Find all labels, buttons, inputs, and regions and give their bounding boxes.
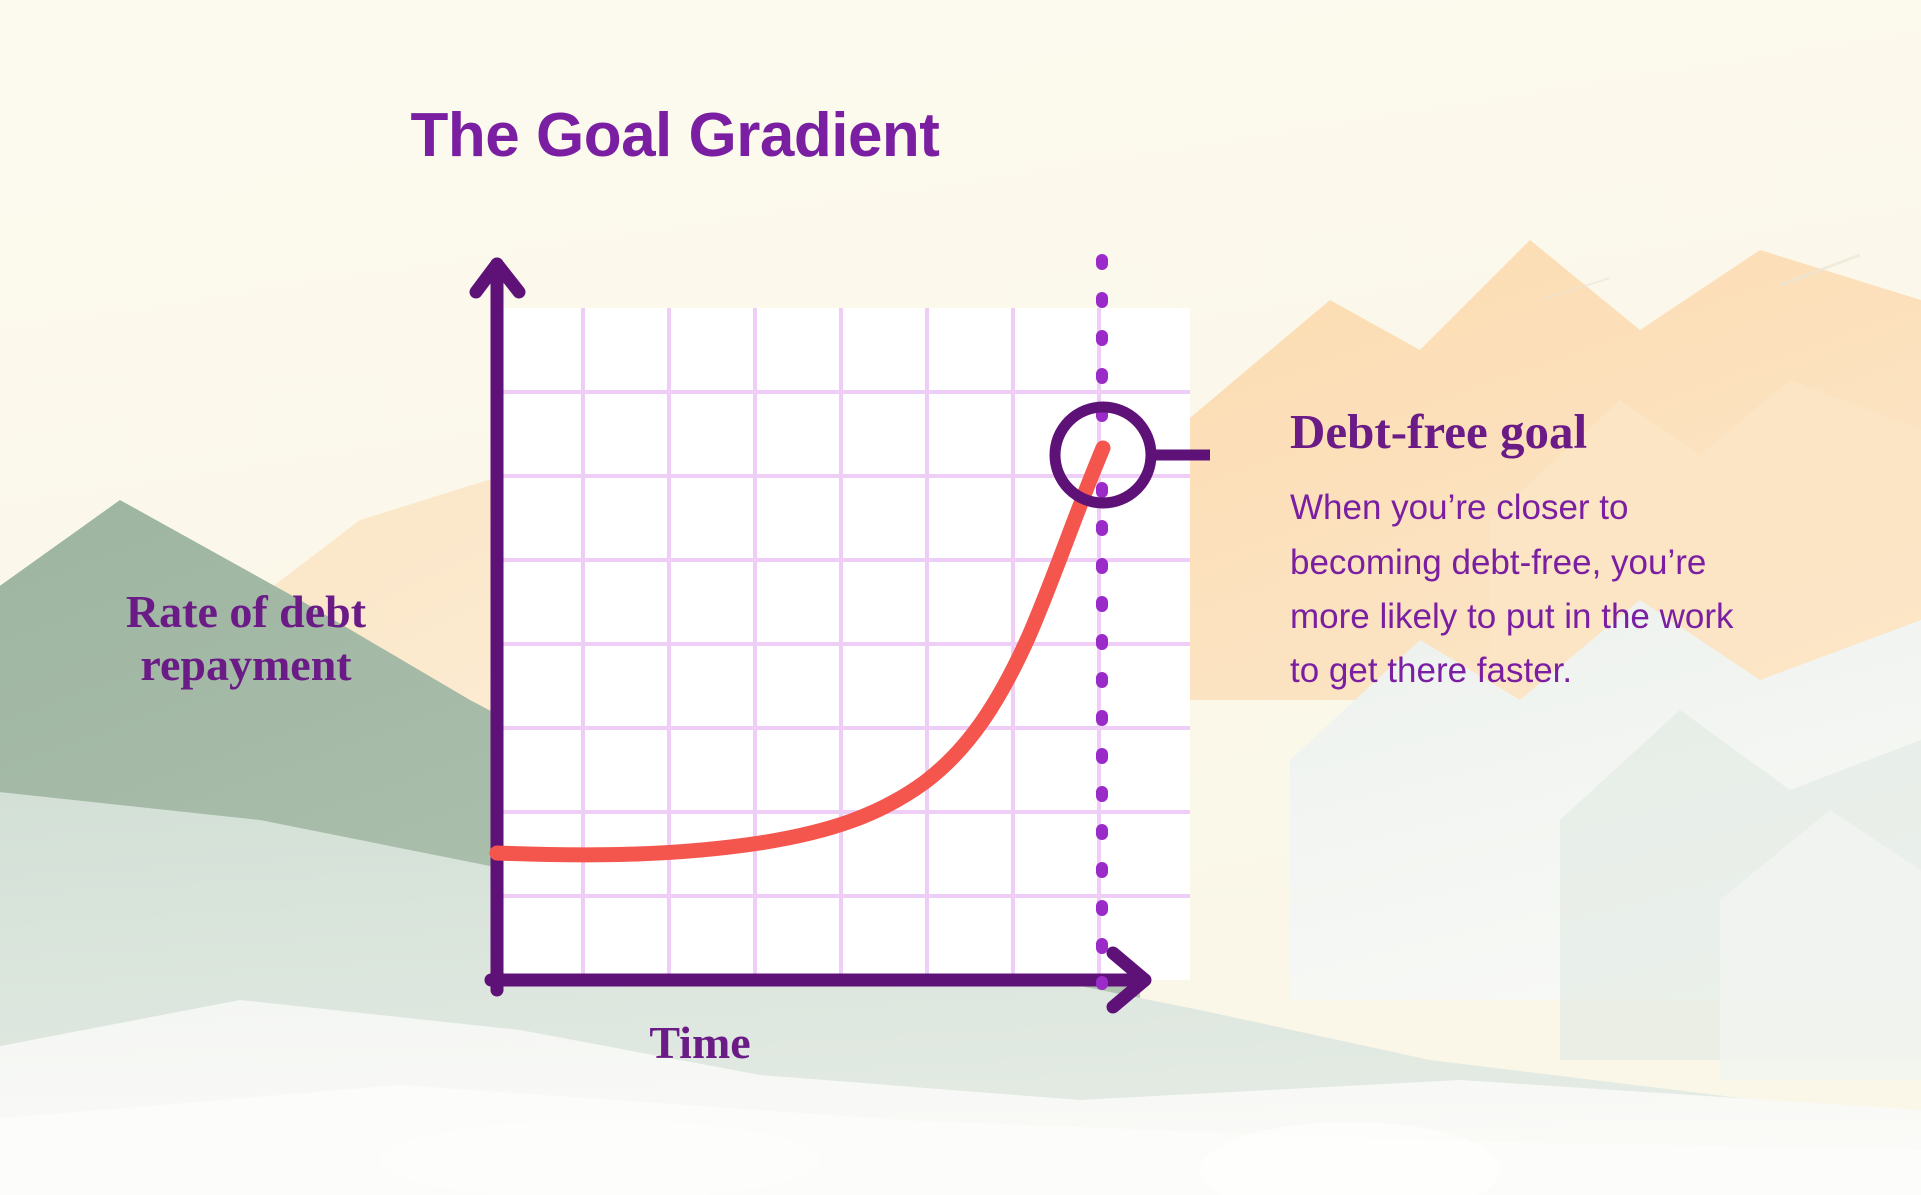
infographic-canvas: The Goal Gradient [0,0,1921,1195]
callout-body-text: When you’re closer to becoming debt-free… [1290,481,1760,698]
chart-svg [380,230,1210,1020]
x-axis-label: Time [560,1016,840,1069]
y-axis-label: Rate of debt repayment [86,586,406,692]
debt-free-goal-callout: Debt-free goal When you’re closer to bec… [1290,406,1760,698]
goal-gradient-chart [380,230,1210,1020]
page-title: The Goal Gradient [0,100,1350,171]
callout-heading: Debt-free goal [1290,406,1760,457]
